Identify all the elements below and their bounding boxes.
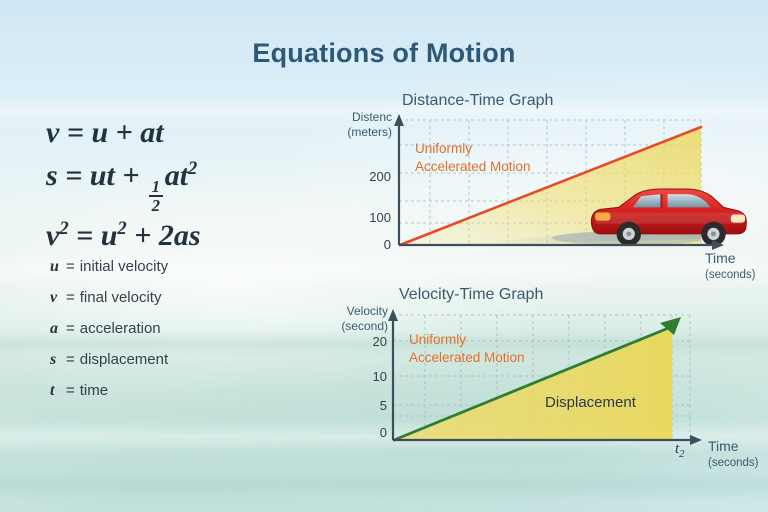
legend-definition: final velocity: [80, 289, 162, 306]
equation-2-lhs: s: [46, 159, 58, 192]
velocity-time-graph: Velocity-Time Graph Velocity (second) 20…: [330, 283, 768, 473]
poster-canvas: Equations of Motion v = u + at s = ut + …: [0, 0, 768, 512]
legend-item-s: s = displacement: [50, 351, 310, 369]
velocity-x-axis-label: Time (seconds): [708, 438, 759, 470]
equals-sign: =: [67, 116, 84, 149]
page-title: Equations of Motion: [0, 38, 768, 69]
legend-definition: acceleration: [80, 320, 161, 337]
legend-definition: displacement: [80, 351, 168, 368]
legend-definition: initial velocity: [80, 258, 168, 275]
equation-3-lhs: v2: [46, 219, 69, 252]
tail-light-icon: [595, 212, 610, 220]
velocity-annotation: Uniformly Accelerated Motion: [409, 331, 525, 367]
distance-x-axis-label: Time (seconds): [705, 250, 756, 282]
distance-annotation: Uniformly Accelerated Motion: [415, 140, 531, 176]
legend-equals: =: [66, 258, 75, 275]
equation-2-rhs: ut + 12at2: [90, 159, 198, 192]
legend-equals: =: [66, 351, 75, 368]
legend-equals: =: [66, 289, 75, 306]
equation-2: s = ut + 12at2: [46, 155, 316, 215]
equals-sign: =: [76, 219, 93, 252]
legend-item-v: v = final velocity: [50, 289, 310, 307]
head-light-icon: [731, 215, 745, 223]
legend-symbol: v: [50, 289, 63, 307]
legend-symbol: a: [50, 320, 63, 338]
legend-item-t: t = time: [50, 382, 310, 400]
distance-time-graph: Distance-Time Graph Distenc (meters) 200…: [330, 92, 768, 282]
equation-1: v = u + at: [46, 112, 316, 155]
symbol-legend: u = initial velocity v = final velocity …: [50, 258, 310, 413]
background-wash: [0, 470, 768, 500]
displacement-label: Displacement: [545, 394, 636, 411]
equation-3: v2 = u2 + 2as: [46, 215, 316, 258]
equals-sign: =: [65, 159, 82, 192]
fraction-one-half: 12: [149, 178, 163, 214]
legend-equals: =: [66, 320, 75, 337]
legend-symbol: u: [50, 258, 63, 276]
legend-symbol: t: [50, 382, 63, 400]
t2-marker-label: t2: [675, 441, 684, 460]
legend-definition: time: [80, 382, 108, 399]
equation-1-lhs: v: [46, 116, 59, 149]
legend-item-a: a = acceleration: [50, 320, 310, 338]
legend-symbol: s: [50, 351, 63, 369]
legend-item-u: u = initial velocity: [50, 258, 310, 276]
legend-equals: =: [66, 382, 75, 399]
equations-list: v = u + at s = ut + 12at2 v2 = u2 + 2as: [46, 112, 316, 257]
velocity-graph-plot: [330, 283, 768, 473]
wheel-icon: [617, 222, 641, 246]
distance-graph-plot: [330, 92, 768, 282]
equation-3-rhs: u2 + 2as: [101, 219, 201, 252]
equation-1-rhs: u + at: [91, 116, 163, 149]
